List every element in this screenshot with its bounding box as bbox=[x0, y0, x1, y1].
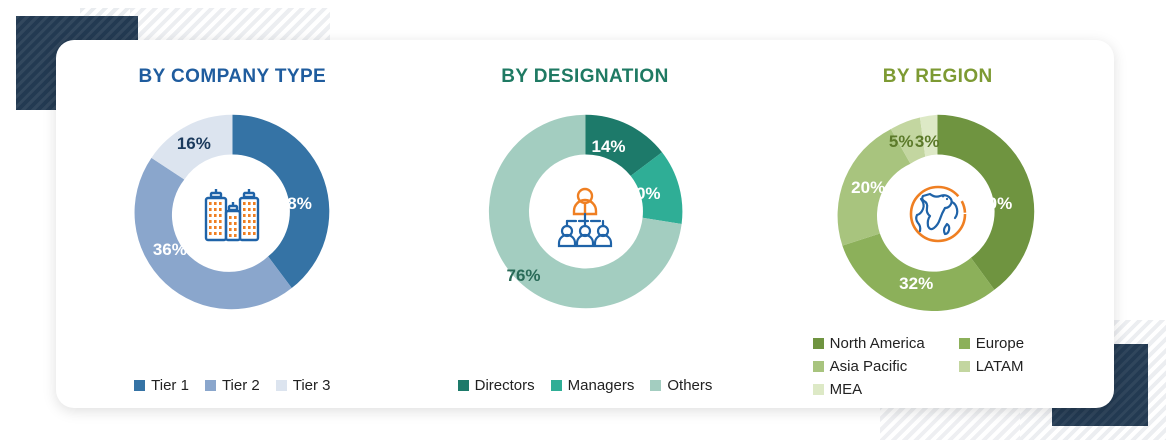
donut-chart-company-type: 48% 36% 16% bbox=[125, 104, 340, 324]
legend-swatch-managers bbox=[551, 380, 562, 391]
legend-designation: Directors Managers Others bbox=[458, 377, 713, 394]
legend-label-tier-2: Tier 2 bbox=[222, 377, 260, 394]
slice-label-mea: 3% bbox=[915, 132, 940, 152]
slice-label-managers: 10% bbox=[626, 184, 660, 204]
legend-label-north-america: North America bbox=[830, 335, 925, 352]
legend-label-latam: LATAM bbox=[976, 358, 1024, 375]
legend-swatch-others bbox=[650, 380, 661, 391]
office-buildings-icon bbox=[184, 166, 280, 262]
legend-label-managers: Managers bbox=[568, 377, 635, 394]
legend-swatch-mea bbox=[813, 384, 824, 395]
legend-region: North America Europe Asia Pacific LATAM … bbox=[793, 335, 1083, 398]
slice-label-tier-3: 16% bbox=[177, 134, 211, 154]
donut-chart-designation: 14% 10% 76% bbox=[478, 104, 693, 324]
legend-swatch-asia-pacific bbox=[813, 361, 824, 372]
slice-label-tier-1: 48% bbox=[278, 194, 312, 214]
panel-title-company-type: BY COMPANY TYPE bbox=[139, 66, 327, 88]
legend-label-tier-1: Tier 1 bbox=[151, 377, 189, 394]
legend-item-latam[interactable]: LATAM bbox=[959, 358, 1024, 375]
legend-item-managers[interactable]: Managers bbox=[551, 377, 635, 394]
infographic-card: BY COMPANY TYPE 48% 36% 16% bbox=[56, 40, 1114, 408]
legend-item-directors[interactable]: Directors bbox=[458, 377, 535, 394]
legend-swatch-directors bbox=[458, 380, 469, 391]
legend-item-tier-2[interactable]: Tier 2 bbox=[205, 377, 260, 394]
legend-swatch-tier-2 bbox=[205, 380, 216, 391]
legend-swatch-tier-3 bbox=[276, 380, 287, 391]
slice-label-latam: 5% bbox=[889, 132, 914, 152]
slice-label-directors: 14% bbox=[591, 137, 625, 157]
legend-label-europe: Europe bbox=[976, 335, 1024, 352]
globe-icon bbox=[890, 166, 986, 262]
legend-item-others[interactable]: Others bbox=[650, 377, 712, 394]
legend-label-others: Others bbox=[667, 377, 712, 394]
legend-swatch-tier-1 bbox=[134, 380, 145, 391]
legend-item-tier-3[interactable]: Tier 3 bbox=[276, 377, 331, 394]
panel-region: BY REGION 40% 32% 20% 5% 3% bbox=[761, 40, 1114, 408]
panel-title-designation: BY DESIGNATION bbox=[501, 66, 668, 88]
legend-swatch-europe bbox=[959, 338, 970, 349]
legend-label-mea: MEA bbox=[830, 381, 863, 398]
legend-label-tier-3: Tier 3 bbox=[293, 377, 331, 394]
legend-company-type: Tier 1 Tier 2 Tier 3 bbox=[134, 377, 330, 394]
legend-item-europe[interactable]: Europe bbox=[959, 335, 1024, 352]
legend-swatch-north-america bbox=[813, 338, 824, 349]
legend-item-north-america[interactable]: North America bbox=[813, 335, 925, 352]
legend-item-asia-pacific[interactable]: Asia Pacific bbox=[813, 358, 925, 375]
panel-designation: BY DESIGNATION 14% 10% 76% bbox=[409, 40, 762, 408]
panel-company-type: BY COMPANY TYPE 48% 36% 16% bbox=[56, 40, 409, 408]
org-chart-people-icon bbox=[537, 166, 633, 262]
slice-label-asia-pacific: 20% bbox=[851, 178, 885, 198]
legend-label-directors: Directors bbox=[475, 377, 535, 394]
panel-title-region: BY REGION bbox=[883, 66, 993, 88]
legend-label-asia-pacific: Asia Pacific bbox=[830, 358, 908, 375]
legend-item-mea[interactable]: MEA bbox=[813, 381, 925, 398]
slice-label-others: 76% bbox=[506, 266, 540, 286]
slice-label-tier-2: 36% bbox=[153, 240, 187, 260]
donut-chart-region: 40% 32% 20% 5% 3% bbox=[830, 104, 1045, 324]
legend-item-tier-1[interactable]: Tier 1 bbox=[134, 377, 189, 394]
slice-label-europe: 32% bbox=[899, 274, 933, 294]
legend-swatch-latam bbox=[959, 361, 970, 372]
